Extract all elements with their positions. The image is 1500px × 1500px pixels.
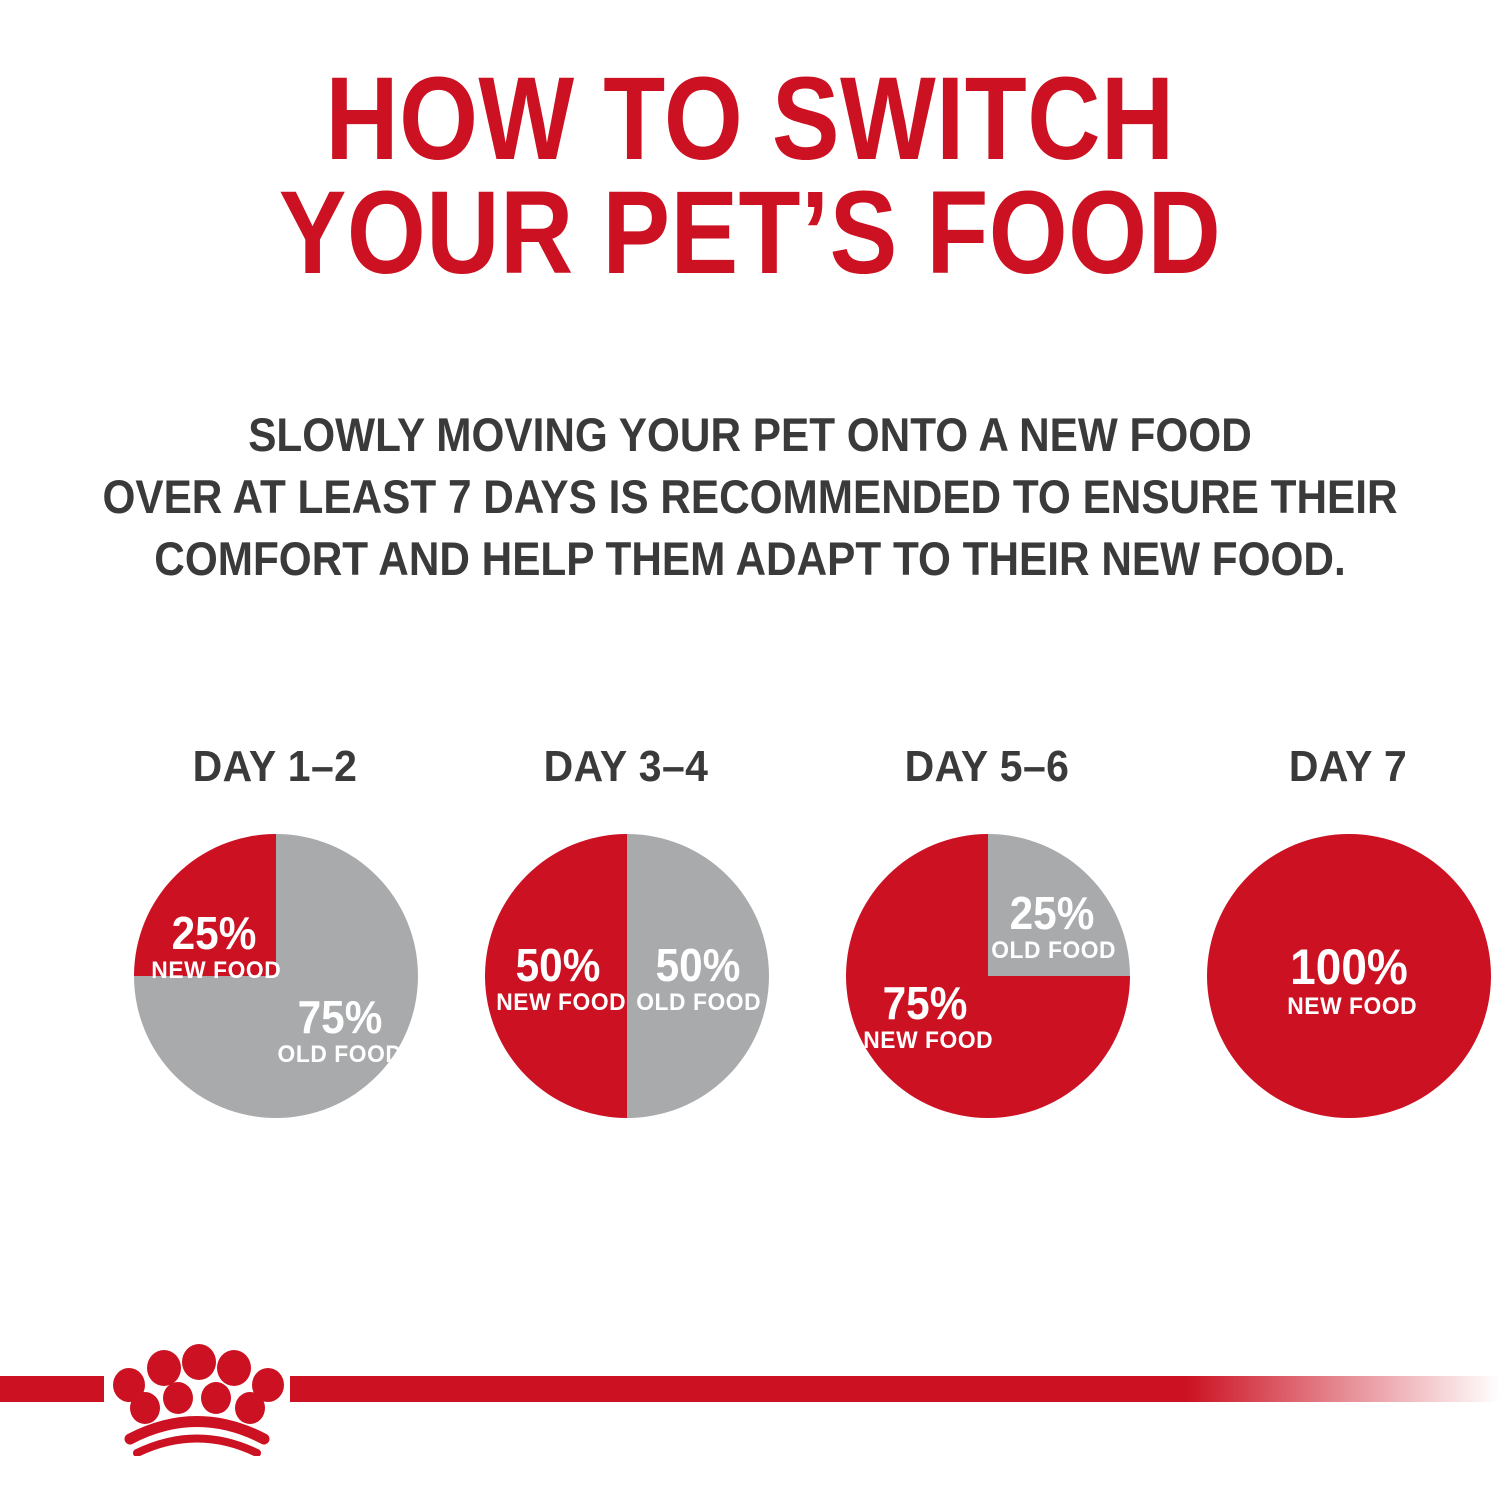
pie-slice-new-food (134, 834, 276, 976)
pie-svg-day-5-6 (846, 834, 1130, 1118)
page-subtitle-line-2: OVER AT LEAST 7 DAYS IS RECOMMENDED TO E… (75, 466, 1425, 528)
pie-chart-day-5-6: DAY 5–6 25% OLD FOOD 75% NEW FOOD (837, 742, 1137, 1162)
pie-graphic-day-3-4: 50% NEW FOOD 50% OLD FOOD (485, 834, 769, 1118)
footer-rule-right (290, 1376, 1500, 1402)
page-title-line-2: YOUR PET’S FOOD (105, 176, 1395, 290)
page-title: HOW TO SWITCH YOUR PET’S FOOD (105, 62, 1395, 291)
pie-chart-day-1-2: DAY 1–2 25% NEW FOOD 75% OLD FOOD (125, 742, 425, 1162)
pie-graphic-day-5-6: 25% OLD FOOD 75% NEW FOOD (846, 834, 1130, 1118)
pie-chart-row: DAY 1–2 25% NEW FOOD 75% OLD FOOD DAY 3–… (0, 742, 1500, 1162)
pie-graphic-day-1-2: 25% NEW FOOD 75% OLD FOOD (134, 834, 418, 1118)
pie-chart-label-day-1-2: DAY 1–2 (136, 742, 415, 792)
pie-svg-day-3-4 (485, 834, 769, 1118)
pie-svg-day-1-2 (134, 834, 418, 1118)
royal-canin-crown-icon (104, 1330, 290, 1456)
pie-slice-old-food (988, 834, 1130, 976)
pie-slice-new-food (1207, 834, 1491, 1118)
page-subtitle-line-1: SLOWLY MOVING YOUR PET ONTO A NEW FOOD (75, 404, 1425, 466)
footer (0, 1330, 1500, 1500)
pie-slice-new-food (485, 834, 627, 1118)
pie-chart-day-3-4: DAY 3–4 50% NEW FOOD 50% OLD FOOD (476, 742, 776, 1162)
page-subtitle-line-3: COMFORT AND HELP THEM ADAPT TO THEIR NEW… (75, 528, 1425, 590)
pie-graphic-day-7: 100% NEW FOOD (1207, 834, 1491, 1118)
pie-chart-label-day-7: DAY 7 (1209, 742, 1488, 792)
pie-chart-label-day-3-4: DAY 3–4 (487, 742, 766, 792)
page-subtitle: SLOWLY MOVING YOUR PET ONTO A NEW FOOD O… (75, 404, 1425, 590)
footer-rule-left (0, 1376, 104, 1402)
pie-chart-label-day-5-6: DAY 5–6 (848, 742, 1127, 792)
pie-chart-day-7: DAY 7 100% NEW FOOD (1198, 742, 1498, 1162)
pie-slice-old-food (627, 834, 769, 1118)
pie-svg-day-7 (1207, 834, 1491, 1118)
page-title-line-1: HOW TO SWITCH (105, 62, 1395, 176)
